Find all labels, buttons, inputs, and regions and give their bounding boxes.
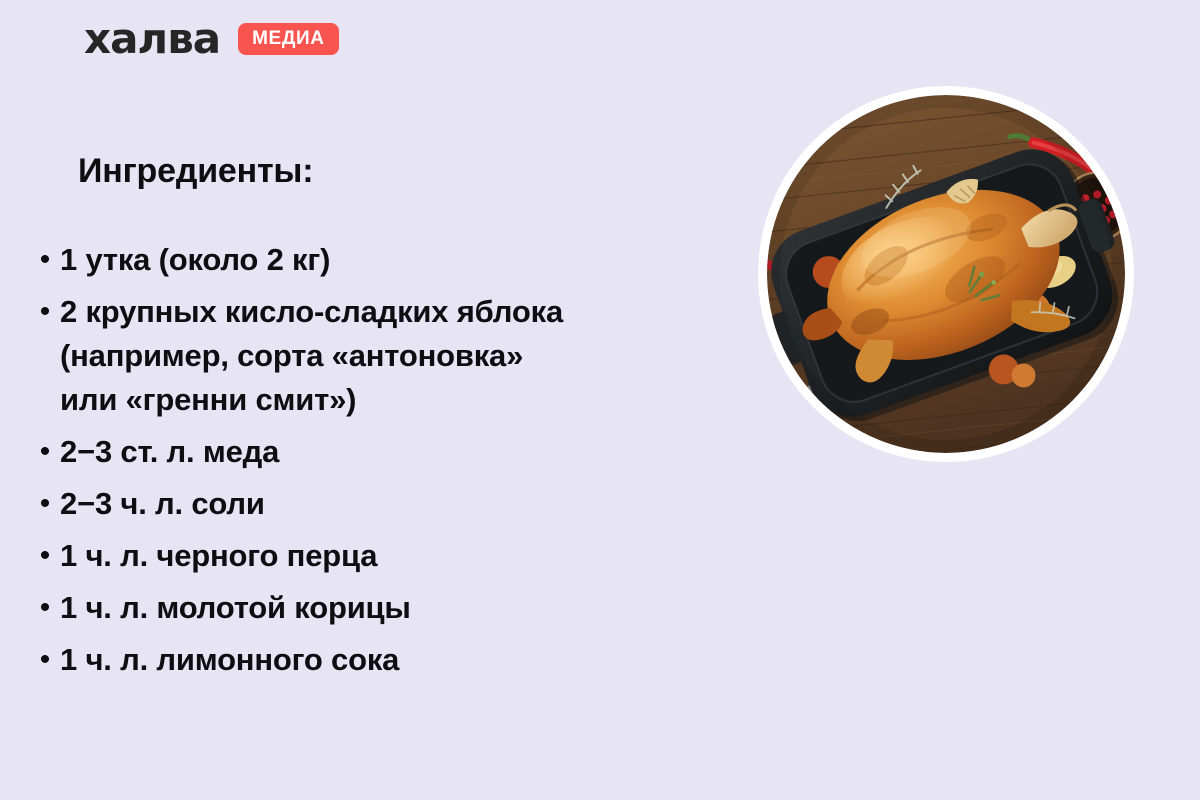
- ingredient-label: 1 ч. л. черного перца: [60, 534, 377, 578]
- list-item: • 1 ч. л. молотой корицы: [30, 586, 730, 630]
- brand-logo: халва МЕДИА: [84, 18, 339, 60]
- halva-wordmark: халва: [84, 18, 220, 60]
- bullet-icon: •: [30, 638, 60, 682]
- duck-photo-frame: [758, 86, 1134, 462]
- ingredient-label: 1 ч. л. молотой корицы: [60, 586, 411, 630]
- list-item: • 1 утка (около 2 кг): [30, 238, 730, 282]
- bullet-icon: •: [30, 430, 60, 474]
- list-item: • 2−3 ст. л. меда: [30, 430, 730, 474]
- ingredients-list: • 1 утка (около 2 кг) • 2 крупных кисло-…: [30, 238, 730, 690]
- duck-photo: [767, 95, 1125, 453]
- bullet-icon: •: [30, 290, 60, 334]
- ingredient-label: 1 утка (около 2 кг): [60, 238, 330, 282]
- bullet-icon: •: [30, 482, 60, 526]
- page-title: Ингредиенты:: [78, 152, 313, 191]
- ingredient-label: 2 крупных кисло-сладких яблока (например…: [60, 290, 563, 422]
- ingredient-label: 1 ч. л. лимонного сока: [60, 638, 399, 682]
- bullet-icon: •: [30, 586, 60, 630]
- list-item: • 2−3 ч. л. соли: [30, 482, 730, 526]
- bullet-icon: •: [30, 534, 60, 578]
- ingredient-label: 2−3 ч. л. соли: [60, 482, 265, 526]
- list-item: • 1 ч. л. лимонного сока: [30, 638, 730, 682]
- ingredient-label: 2−3 ст. л. меда: [60, 430, 279, 474]
- list-item: • 1 ч. л. черного перца: [30, 534, 730, 578]
- media-badge: МЕДИА: [238, 23, 338, 55]
- list-item: • 2 крупных кисло-сладких яблока (наприм…: [30, 290, 730, 422]
- bullet-icon: •: [30, 238, 60, 282]
